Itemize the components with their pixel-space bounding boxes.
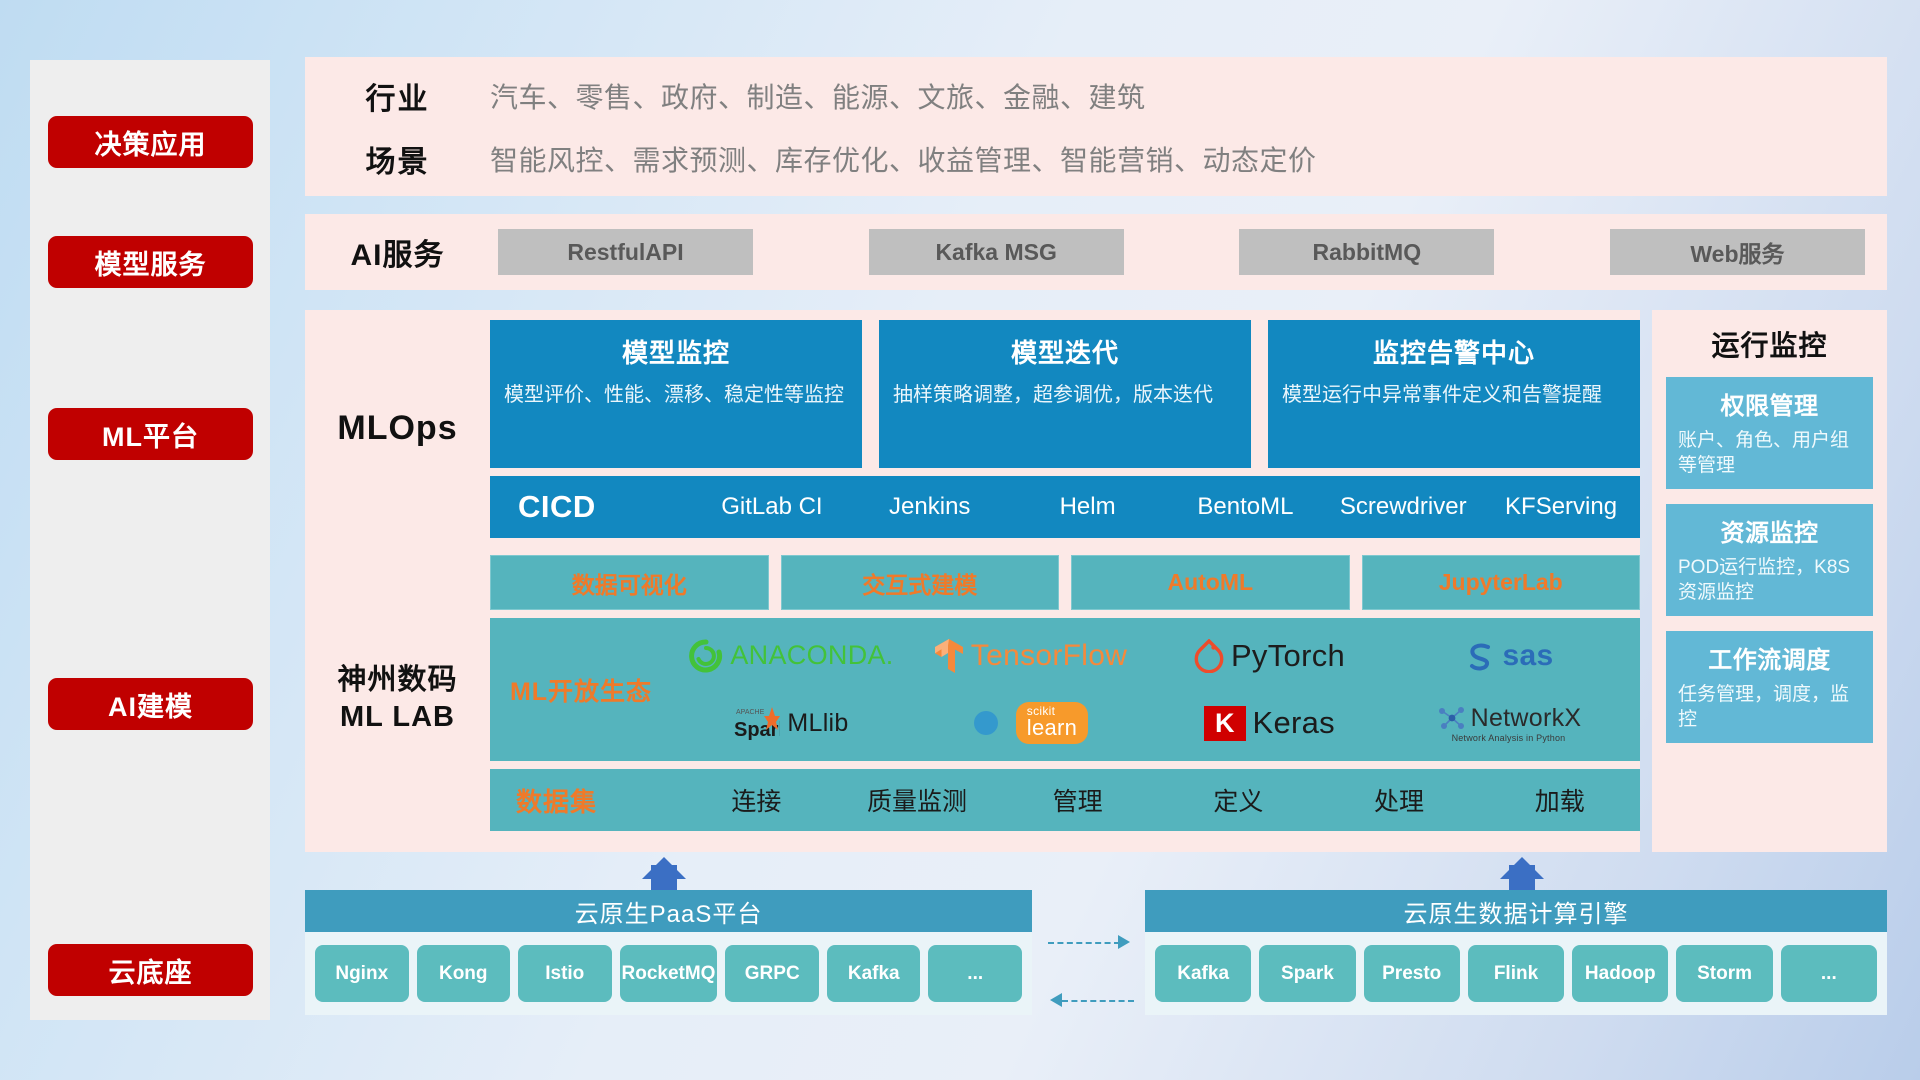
anaconda-logo: ANACONDA. [689, 639, 893, 673]
cloud-chip-kong[interactable]: Kong [417, 945, 511, 1002]
scenario-row: 场景 智能风控、需求预测、库存优化、收益管理、智能营销、动态定价 [305, 124, 1887, 194]
card-desc: 模型评价、性能、漂移、稳定性等监控 [504, 382, 848, 409]
dataset-bar: 数据集 连接 质量监测 管理 定义 处理 加载 [490, 769, 1640, 831]
tab-interactive-modeling[interactable]: 交互式建模 [781, 555, 1060, 610]
industry-label: 行业 [305, 74, 490, 118]
card-desc: 模型运行中异常事件定义和告警提醒 [1282, 382, 1626, 409]
mlops-label: MLOps [305, 310, 490, 547]
networkx-icon [1436, 704, 1466, 732]
cloud-chip-rocketmq[interactable]: RocketMQ [620, 945, 718, 1002]
cloud-chip-kafka[interactable]: Kafka [827, 945, 921, 1002]
cicd-bar: CICD GitLab CI Jenkins Helm BentoML Scre… [490, 476, 1640, 538]
dataset-title: 数据集 [516, 782, 676, 819]
pytorch-logo-text: PyTorch [1231, 638, 1345, 674]
ml-ecosystem-panel: ML开放生态 ANACONDA. TensorFlow [490, 618, 1640, 761]
cloud-engine-chips: Kafka Spark Presto Flink Hadoop Storm ..… [1145, 932, 1887, 1015]
dataset-items: 连接 质量监测 管理 定义 处理 加载 [676, 782, 1640, 818]
industry-row: 行业 汽车、零售、政府、制造、能源、文旅、金融、建筑 [305, 61, 1887, 131]
cloud-paas-chips: Nginx Kong Istio RocketMQ GRPC Kafka ... [305, 932, 1032, 1015]
industry-value: 汽车、零售、政府、制造、能源、文旅、金融、建筑 [490, 76, 1146, 116]
ai-services-chips: RestfulAPI Kafka MSG RabbitMQ Web服务 [490, 229, 1887, 275]
learn-text: learn [1027, 717, 1077, 739]
sas-logo-text: sas [1503, 639, 1554, 673]
engine-chip-flink[interactable]: Flink [1468, 945, 1564, 1002]
dataset-item-quality-monitor[interactable]: 质量监测 [837, 782, 998, 818]
ml-lab-label-line2: ML LAB [340, 699, 455, 735]
architecture-diagram: 决策应用 模型服务 ML平台 AI建模 云底座 行业 汽车、零售、政府、制造、能… [0, 0, 1920, 1080]
scenario-label: 场景 [305, 137, 490, 181]
engine-chip-kafka[interactable]: Kafka [1155, 945, 1251, 1002]
rail-item-decision-apps[interactable]: 决策应用 [48, 116, 253, 168]
tensorflow-icon [934, 638, 964, 674]
rail-item-label: 模型服务 [95, 243, 207, 282]
cicd-items: GitLab CI Jenkins Helm BentoML Screwdriv… [693, 494, 1640, 519]
rail-item-label: 决策应用 [95, 123, 207, 162]
rail-item-ai-modeling[interactable]: AI建模 [48, 678, 253, 730]
rail-item-label: 云底座 [109, 951, 193, 990]
keras-icon: K [1204, 706, 1246, 741]
rail-item-ml-platform[interactable]: ML平台 [48, 408, 253, 460]
networkx-logo: NetworkX Network Analysis in Python [1436, 704, 1582, 743]
mlops-card-alert-center[interactable]: 监控告警中心 模型运行中异常事件定义和告警提醒 [1268, 320, 1640, 468]
card-title: 模型迭代 [893, 333, 1237, 370]
engine-chip-more[interactable]: ... [1781, 945, 1877, 1002]
layer-rail: 决策应用 模型服务 ML平台 AI建模 云底座 [30, 60, 270, 1020]
ml-lab-tabs: 数据可视化 交互式建模 AutoML JupyterLab [490, 555, 1640, 610]
engine-chip-spark[interactable]: Spark [1259, 945, 1355, 1002]
ml-lab-label: 神州数码 ML LAB [305, 545, 490, 852]
ai-services-label: AI服务 [305, 230, 490, 274]
spark-icon: APACHE Spark [734, 703, 780, 743]
rail-item-label: AI建模 [108, 685, 193, 724]
ai-service-chip-web-service[interactable]: Web服务 [1610, 229, 1865, 275]
tensorflow-logo: TensorFlow [934, 638, 1127, 674]
scenario-value: 智能风控、需求预测、库存优化、收益管理、智能营销、动态定价 [490, 139, 1317, 179]
dataset-item-manage[interactable]: 管理 [997, 782, 1158, 818]
ai-services-band: AI服务 RestfulAPI Kafka MSG RabbitMQ Web服务 [305, 214, 1887, 290]
tensorflow-logo-text: TensorFlow [971, 639, 1127, 673]
ai-service-chip-rabbitmq[interactable]: RabbitMQ [1239, 229, 1494, 275]
keras-logo-text: Keras [1253, 705, 1335, 741]
cloud-chip-nginx[interactable]: Nginx [315, 945, 409, 1002]
rail-item-cloud-foundation[interactable]: 云底座 [48, 944, 253, 996]
ai-service-chip-restfulapi[interactable]: RestfulAPI [498, 229, 753, 275]
card-desc: 抽样策略调整，超参调优，版本迭代 [893, 382, 1237, 409]
card-title: 工作流调度 [1678, 640, 1861, 675]
dataset-item-process[interactable]: 处理 [1319, 782, 1480, 818]
mlops-card-model-monitoring[interactable]: 模型监控 模型评价、性能、漂移、稳定性等监控 [490, 320, 862, 468]
card-title: 模型监控 [504, 333, 848, 370]
monitor-card-permissions[interactable]: 权限管理 账户、角色、用户组等管理 [1666, 377, 1873, 489]
cicd-item-kfserving[interactable]: KFServing [1482, 494, 1640, 519]
rail-item-model-service[interactable]: 模型服务 [48, 236, 253, 288]
scikit-learn-logo: scikit learn [973, 702, 1088, 744]
pytorch-icon [1194, 639, 1224, 673]
card-title: 资源监控 [1678, 513, 1861, 548]
anaconda-logo-text: ANACONDA. [730, 640, 893, 671]
cicd-item-helm[interactable]: Helm [1009, 494, 1167, 519]
dataset-item-load[interactable]: 加载 [1479, 782, 1640, 818]
cicd-item-gitlab-ci[interactable]: GitLab CI [693, 494, 851, 519]
cloud-paas-platform: 云原生PaaS平台 Nginx Kong Istio RocketMQ GRPC… [305, 890, 1032, 1015]
mllib-logo-text: MLlib [787, 709, 848, 738]
engine-chip-presto[interactable]: Presto [1364, 945, 1460, 1002]
networkx-logo-text: NetworkX [1471, 704, 1582, 733]
cloud-paas-title: 云原生PaaS平台 [305, 890, 1032, 932]
networkx-tagline: Network Analysis in Python [1452, 733, 1566, 743]
dataset-item-define[interactable]: 定义 [1158, 782, 1319, 818]
ml-ecosystem-label: ML开放生态 [490, 672, 672, 708]
cicd-item-screwdriver[interactable]: Screwdriver [1324, 494, 1482, 519]
card-title: 权限管理 [1678, 386, 1861, 421]
cloud-engine-title: 云原生数据计算引擎 [1145, 890, 1887, 932]
scikit-learn-badge: scikit learn [1016, 702, 1088, 744]
cicd-title: CICD [518, 489, 693, 525]
anaconda-icon [689, 639, 723, 673]
tab-data-visualization[interactable]: 数据可视化 [490, 555, 769, 610]
card-desc: 任务管理，调度，监控 [1678, 682, 1861, 732]
scikit-dots-icon [973, 708, 1009, 738]
engine-chip-hadoop[interactable]: Hadoop [1572, 945, 1668, 1002]
mlops-band: MLOps 模型监控 模型评价、性能、漂移、稳定性等监控 模型迭代 抽样策略调整… [305, 310, 1640, 547]
tab-jupyterlab[interactable]: JupyterLab [1362, 555, 1641, 610]
ai-service-chip-kafka-msg[interactable]: Kafka MSG [869, 229, 1124, 275]
keras-logo: K Keras [1204, 705, 1335, 741]
sas-logo: sas [1464, 639, 1554, 673]
mlops-cards: 模型监控 模型评价、性能、漂移、稳定性等监控 模型迭代 抽样策略调整，超参调优，… [490, 320, 1640, 468]
tab-automl[interactable]: AutoML [1071, 555, 1350, 610]
sas-icon [1464, 640, 1496, 672]
pytorch-logo: PyTorch [1194, 638, 1345, 674]
svg-text:APACHE: APACHE [736, 709, 765, 716]
ml-lab-band: 神州数码 ML LAB 数据可视化 交互式建模 AutoML JupyterLa… [305, 545, 1640, 852]
ml-ecosystem-logos: ANACONDA. TensorFlow PyTorch [672, 618, 1640, 761]
cicd-item-jenkins[interactable]: Jenkins [851, 494, 1009, 519]
card-desc: 账户、角色、用户组等管理 [1678, 428, 1861, 478]
runtime-monitor-panel: 运行监控 权限管理 账户、角色、用户组等管理 资源监控 POD运行监控，K8S资… [1652, 310, 1887, 852]
dataset-item-connect[interactable]: 连接 [676, 782, 837, 818]
applications-band: 行业 汽车、零售、政府、制造、能源、文旅、金融、建筑 场景 智能风控、需求预测、… [305, 57, 1887, 196]
card-title: 监控告警中心 [1282, 333, 1626, 370]
monitor-card-workflow-scheduling[interactable]: 工作流调度 任务管理，调度，监控 [1666, 631, 1873, 743]
cloud-chip-istio[interactable]: Istio [518, 945, 612, 1002]
rail-item-label: ML平台 [102, 415, 199, 454]
engine-chip-storm[interactable]: Storm [1676, 945, 1772, 1002]
runtime-monitor-title: 运行监控 [1652, 310, 1887, 377]
monitor-card-resources[interactable]: 资源监控 POD运行监控，K8S资源监控 [1666, 504, 1873, 616]
ml-lab-label-line1: 神州数码 [337, 662, 457, 698]
cicd-item-bentoml[interactable]: BentoML [1166, 494, 1324, 519]
cloud-chip-grpc[interactable]: GRPC [725, 945, 819, 1002]
cloud-chip-more[interactable]: ... [928, 945, 1022, 1002]
mlops-card-model-iteration[interactable]: 模型迭代 抽样策略调整，超参调优，版本迭代 [879, 320, 1251, 468]
spark-mllib-logo: APACHE Spark MLlib [734, 703, 848, 743]
cloud-data-compute-engine: 云原生数据计算引擎 Kafka Spark Presto Flink Hadoo… [1145, 890, 1887, 1015]
card-desc: POD运行监控，K8S资源监控 [1678, 555, 1861, 605]
